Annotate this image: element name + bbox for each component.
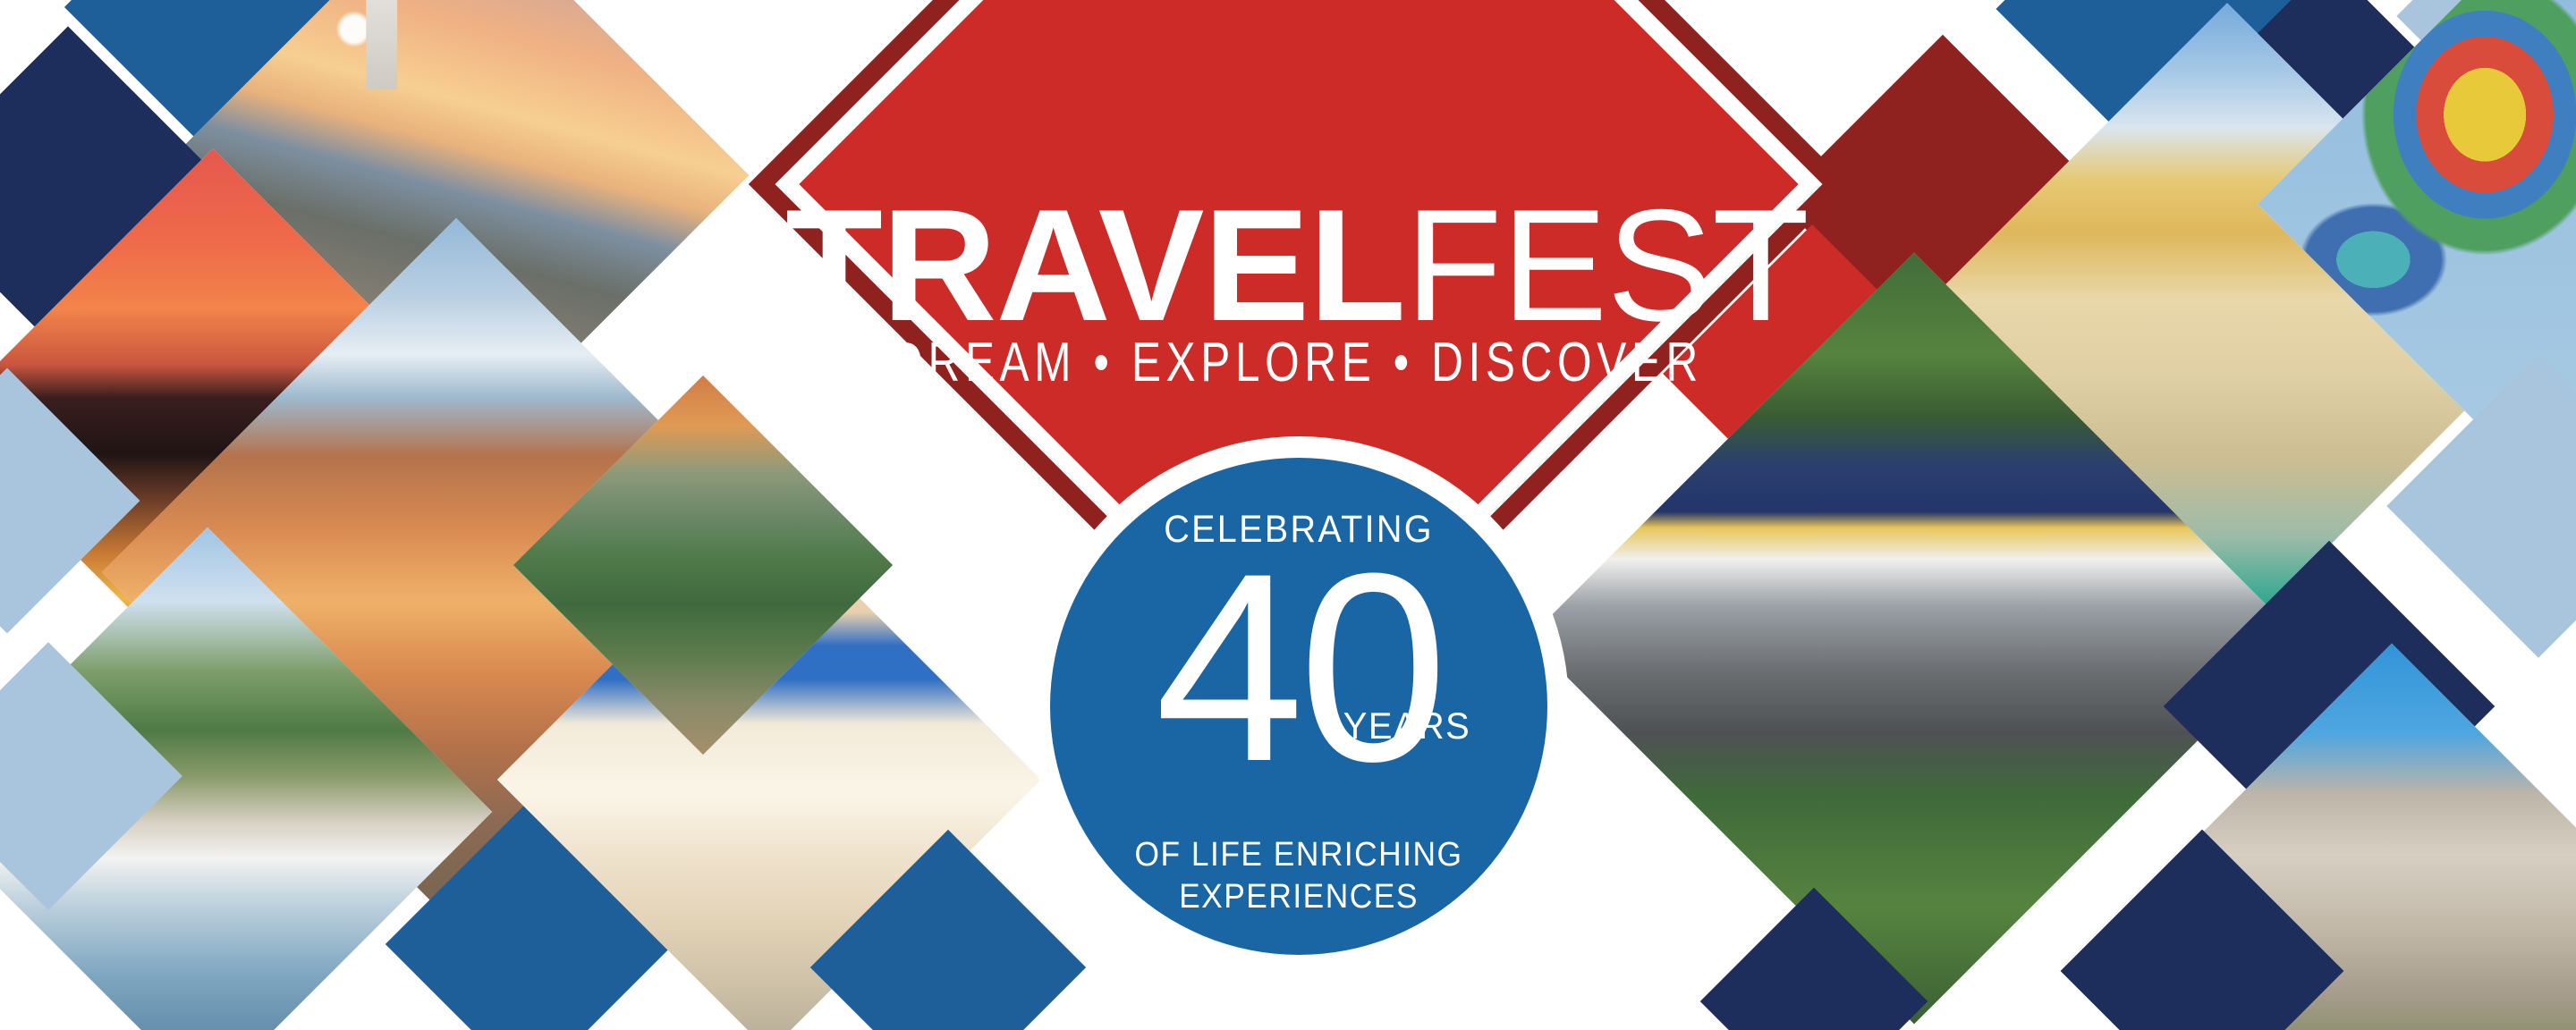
badge-subtitle-line-1: OF LIFE ENRICHING	[1067, 834, 1529, 875]
wordmark-travel: TRAVEL	[785, 176, 1405, 354]
travelfest-banner: TRAVELFEST DREAM • EXPLORE • DISCOVER CE…	[0, 0, 2576, 1030]
anniversary-badge-circle: CELEBRATING 40 YEARS OF LIFE ENRICHING E…	[1050, 458, 1547, 955]
wordmark-fest: FEST	[1405, 176, 1809, 354]
anniversary-badge: CELEBRATING 40 YEARS OF LIFE ENRICHING E…	[1029, 436, 1569, 976]
tagline: DREAM • EXPLORE • DISCOVER	[891, 331, 1703, 394]
badge-subtitle: OF LIFE ENRICHING EXPERIENCES	[1067, 834, 1529, 917]
badge-number-40: 40	[1050, 533, 1547, 801]
badge-years-label: YEARS	[1343, 705, 1471, 747]
wordmark: TRAVELFEST	[785, 186, 1809, 345]
badge-subtitle-line-2: EXPERIENCES	[1067, 876, 1529, 917]
